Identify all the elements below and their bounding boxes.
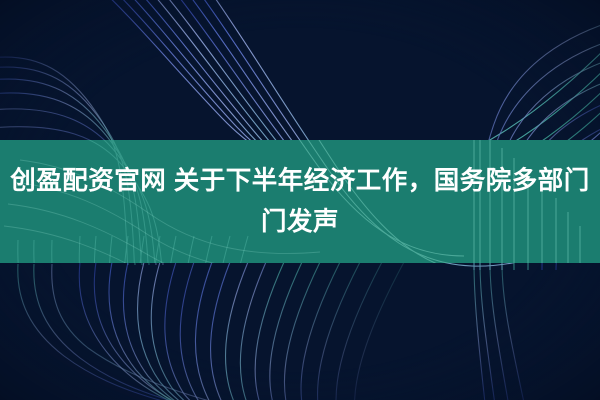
banner-image: 创盈配资官网 关于下半年经济工作，国务院多部门 门发声 (0, 0, 600, 400)
headline-line-2: 门发声 (261, 202, 339, 243)
headline-block: 创盈配资官网 关于下半年经济工作，国务院多部门 门发声 (0, 140, 600, 263)
headline-line-1: 创盈配资官网 关于下半年经济工作，国务院多部门 (10, 161, 590, 202)
